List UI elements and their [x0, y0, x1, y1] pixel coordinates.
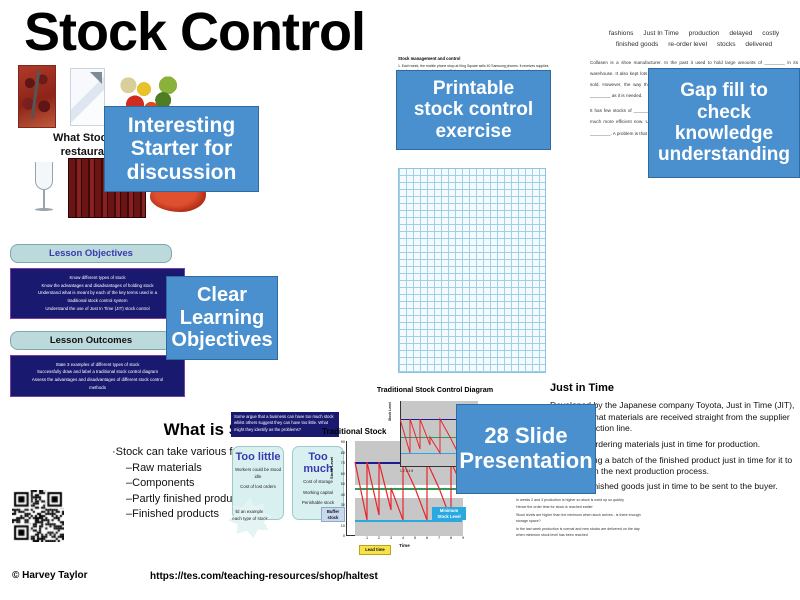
wine-glass-photo [32, 162, 56, 214]
y-tick: 70 [341, 461, 345, 465]
x-tick: 1 [366, 536, 368, 540]
word-fashions: fashions [609, 30, 634, 37]
y-tick: 60 [341, 472, 345, 476]
callout-gap-fill: Gap fill to check knowledge understandin… [648, 68, 800, 178]
y-axis-label: Stock Level [329, 457, 334, 479]
y-tick: 40 [341, 493, 345, 497]
y-tick: 80 [341, 451, 345, 455]
x-tick: 8 [450, 536, 452, 540]
x-tick: 7 [438, 536, 440, 540]
word-finished-goods: finished goods [616, 41, 659, 48]
too-little-heading: Too little [233, 451, 283, 463]
word-bank: fashions Just In Time production delayed… [592, 28, 796, 50]
word-bank-row-2: finished goods re-order level stocks del… [592, 39, 796, 50]
word-stocks: stocks [717, 41, 736, 48]
too-little-line: Workers could be stood idle [233, 467, 283, 480]
worksheet-graph-grid [398, 168, 546, 373]
outcome-item: Assess the advantages and disadvantages … [19, 376, 176, 384]
outcome-item: State 3 examples of different types of s… [19, 361, 176, 369]
objective-item: Understand the use of Just In Time (JIT)… [19, 305, 176, 313]
worksheet-title: Stock management and control [398, 56, 557, 61]
min-stock-tag: Minimum Stock Level [432, 507, 466, 520]
folded-napkins-photo [70, 68, 105, 126]
objective-item: Know different types of stock [19, 274, 176, 282]
x-tick: 2 [378, 536, 380, 540]
stock-diagram-title: Traditional Stock Control Diagram [320, 385, 550, 394]
callout-printable-exercise: Printable stock control exercise [396, 70, 551, 150]
lead-time-tag: Lead time [359, 545, 391, 555]
outcome-item: Successfully draw and label a traditiona… [19, 368, 176, 376]
word-production: production [689, 30, 720, 37]
y-tick: 90 [341, 440, 345, 444]
callout-slide-count: 28 Slide Presentation [456, 404, 596, 494]
jit-heading: Just in Time [550, 382, 798, 394]
x-axis-label: Time [399, 543, 410, 548]
objectives-slide-thumbnail: Lesson Objectives Know different types o… [10, 244, 190, 394]
word-costly: costly [762, 30, 779, 37]
objective-item: traditional stock control system [19, 297, 176, 305]
buffer-stock-tag: Buffer stock [321, 507, 345, 522]
chart-heading: Traditional Stock [322, 427, 386, 436]
x-tick: 6 [426, 536, 428, 540]
copyright-text: © Harvey Taylor [12, 570, 88, 581]
objective-item: Understand what is meant by each of the … [19, 289, 176, 297]
qr-code[interactable] [12, 490, 64, 542]
word-bank-row-1: fashions Just In Time production delayed… [592, 28, 796, 39]
x-tick: 9 [462, 536, 464, 540]
slide-preview-page: Stock Control What Stock might a restaur… [0, 0, 800, 600]
outcome-item: methods [19, 384, 176, 392]
footer-url[interactable]: https://tes.com/teaching-resources/shop/… [150, 571, 378, 582]
x-tick: 4 [402, 536, 404, 540]
lesson-objectives-box: Know different types of stock Know the a… [10, 268, 185, 319]
x-tick: 3 [390, 536, 392, 540]
word-just-in-time: Just In Time [643, 30, 679, 37]
y-tick: 10 [341, 524, 345, 528]
objective-item: Know the advantages and disadvantages of… [19, 282, 176, 290]
lesson-objectives-heading: Lesson Objectives [10, 244, 172, 263]
lesson-outcomes-box: State 3 examples of different types of s… [10, 355, 185, 398]
wine-rack-photo [18, 65, 56, 128]
word-delivered: delivered [745, 41, 772, 48]
y-tick: 50 [341, 482, 345, 486]
x-tick: 5 [414, 536, 416, 540]
word-re-order-level: re-order level [668, 41, 707, 48]
page-title: Stock Control [24, 4, 365, 61]
word-delayed: delayed [729, 30, 752, 37]
callout-interesting-starter: Interesting Starter for discussion [104, 106, 259, 192]
y-tick: 0 [343, 534, 345, 538]
too-little-line: Cost of lost orders [233, 484, 283, 491]
lesson-outcomes-heading: Lesson Outcomes [10, 331, 172, 350]
callout-learning-objectives: Clear Learning Objectives [166, 276, 278, 360]
